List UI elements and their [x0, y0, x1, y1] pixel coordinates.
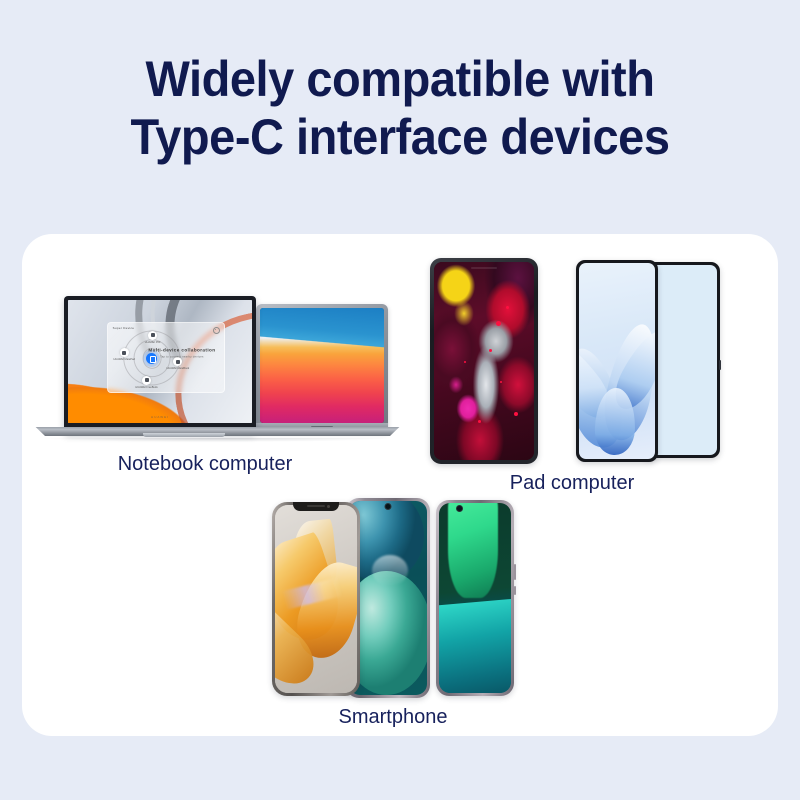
gold-feather-wallpaper: [275, 505, 357, 693]
fluid-art-wallpaper: [434, 262, 534, 460]
phone-back: [436, 500, 514, 696]
power-button[interactable]: [514, 586, 516, 595]
wallpaper-dot: [514, 412, 518, 416]
green-gradient-wallpaper: [439, 503, 511, 693]
laptop-matebook-screen: Super Device HUAWEI MatePad HUAWEI P60: [68, 300, 252, 423]
super-device-headline: Multi-device collaboration: [148, 348, 215, 353]
super-device-subtext: Tap to connect nearby devices: [148, 355, 215, 359]
smartphone-group: [272, 498, 514, 698]
promo-banner: Widely compatible with Type-C interface …: [0, 0, 800, 800]
front-camera-icon: [327, 505, 330, 508]
laptop-deck-front: [143, 433, 226, 437]
page-title-line-1: Widely compatible with: [24, 50, 776, 108]
tablet-front: [430, 258, 538, 464]
blue-flower-wallpaper: [579, 263, 655, 459]
laptop-macbook-screen: [260, 308, 384, 423]
wallpaper-dot: [489, 349, 492, 352]
wallpaper-dot: [464, 361, 466, 363]
radar-node-label: HUAWEI P60: [145, 341, 161, 344]
wallpaper-dot: [478, 420, 481, 423]
gear-icon[interactable]: [213, 327, 220, 334]
radar-node-label: HUAWEI FreeBuds: [135, 386, 157, 389]
wallpaper-shape: [349, 571, 427, 695]
huawei-brand-text: HUAWEI: [151, 415, 169, 419]
laptop-macbook: [256, 304, 388, 432]
notch-front-camera: [293, 502, 339, 511]
tablet-front-screen: [434, 262, 534, 460]
radar-node[interactable]: HUAWEI FreeBuds: [142, 376, 151, 385]
notebook-group: Super Device HUAWEI MatePad HUAWEI P60: [30, 296, 405, 446]
tablet-middle-screen: [579, 263, 655, 459]
front-camera-icon: [471, 267, 497, 269]
super-device-panel-title: Super Device: [113, 326, 135, 330]
front-camera-icon: [385, 503, 392, 510]
phone-middle-screen: [349, 501, 427, 695]
wallpaper-shape: [448, 503, 498, 598]
smartphone-group-label: Smartphone: [272, 706, 514, 729]
macos-bigsur-wallpaper: [260, 308, 384, 423]
laptop-matebook: Super Device HUAWEI MatePad HUAWEI P60: [64, 296, 256, 433]
wallpaper-dot: [500, 381, 502, 383]
pad-group: [430, 258, 720, 468]
tablet-middle: [576, 260, 658, 462]
tablet-side-button[interactable]: [719, 360, 721, 370]
page-title: Widely compatible with Type-C interface …: [24, 50, 776, 166]
notebook-group-label: Notebook computer: [25, 453, 385, 476]
radar-node-label: HUAWEI MateBook: [167, 367, 190, 370]
teal-circles-wallpaper: [349, 501, 427, 695]
wallpaper-dot: [496, 321, 501, 326]
page-title-line-2: Type-C interface devices: [24, 108, 776, 166]
super-device-panel-text: Multi-device collaboration Tap to connec…: [148, 348, 215, 359]
radar-node[interactable]: HUAWEI MatePad: [120, 348, 129, 357]
wallpaper-dot: [506, 306, 509, 309]
laptop-base: [30, 427, 405, 440]
phone-front: [272, 502, 360, 696]
super-device-panel[interactable]: Super Device HUAWEI MatePad HUAWEI P60: [107, 322, 225, 393]
laptop-shadow: [41, 438, 394, 442]
pad-group-label: Pad computer: [452, 472, 692, 495]
phone-back-screen: [439, 503, 511, 693]
volume-button[interactable]: [514, 564, 516, 580]
radar-node-label: HUAWEI MatePad: [114, 358, 135, 361]
phone-front-screen: [275, 505, 357, 693]
radar-node[interactable]: HUAWEI P60: [148, 331, 157, 340]
wallpaper-shape: [439, 598, 511, 693]
